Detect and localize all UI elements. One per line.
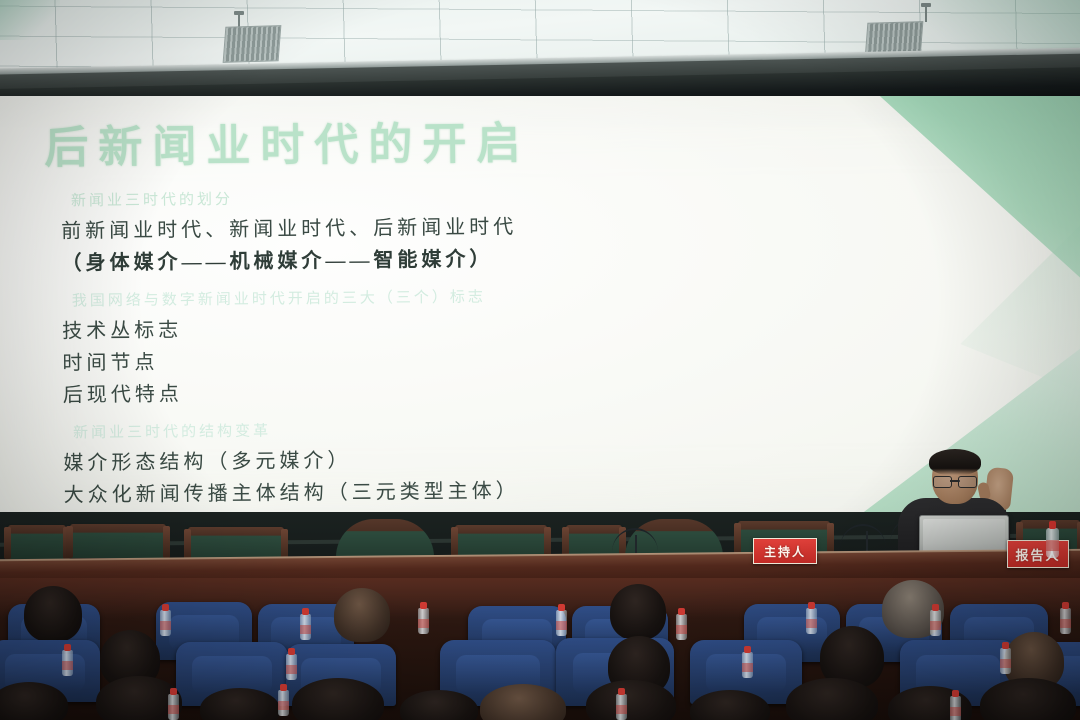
slide-line-1-2: （身体媒介——机械媒介——智能媒介） [61, 239, 805, 275]
water-bottle [278, 690, 289, 716]
ceiling-vent-left [223, 25, 282, 63]
stage-chair [8, 525, 66, 559]
water-bottle [1000, 648, 1011, 674]
water-bottle [418, 608, 429, 634]
audience-area [0, 578, 1080, 720]
water-bottle [286, 654, 297, 680]
eyeglasses-icon [933, 476, 977, 486]
water-bottle [950, 696, 961, 720]
water-bottle [930, 610, 941, 636]
water-bottle [616, 694, 627, 720]
slide-line-2-2: 时间节点 [62, 339, 806, 375]
audience-head [610, 584, 666, 640]
water-bottle [556, 610, 567, 636]
slide-line-3-1: 媒介形态结构（多元媒介） [63, 439, 807, 475]
water-bottle [160, 610, 171, 636]
water-bottle [1060, 608, 1071, 634]
audience-head [24, 586, 82, 642]
projection-screen: 后新闻业时代的开启 新闻业三时代的划分 前新闻业时代、新闻业时代、后新闻业时代 … [0, 96, 1080, 524]
water-bottle [676, 614, 687, 640]
water-bottle [300, 614, 311, 640]
slide-line-2-3: 后现代特点 [63, 371, 807, 407]
water-bottle [168, 694, 179, 720]
water-bottle [742, 652, 753, 678]
slide-section-heading-2: 我国网络与数字新闻业时代开启的三大（三个）标志 [72, 282, 806, 310]
slide-content: 后新闻业时代的开启 新闻业三时代的划分 前新闻业时代、新闻业时代、后新闻业时代 … [44, 113, 808, 524]
water-bottle [62, 650, 73, 676]
slide-line-3-2: 大众化新闻传播主体结构（三元类型主体） [64, 471, 808, 507]
projection-screen-area: 后新闻业时代的开启 新闻业三时代的划分 前新闻业时代、新闻业时代、后新闻业时代 … [0, 96, 1080, 524]
water-bottle [806, 608, 817, 634]
slide-title: 后新闻业时代的开启 [44, 113, 804, 175]
slide-section-heading-1: 新闻业三时代的划分 [71, 182, 805, 210]
nameplate-speaker: 报告人 [1007, 540, 1069, 568]
stage-chair [70, 524, 166, 558]
vent-stem-right [925, 6, 927, 22]
nameplate-host: 主持人 [753, 538, 817, 564]
slide-section-heading-3: 新闻业三时代的结构变革 [73, 414, 807, 442]
slide-line-2-1: 技术丛标志 [62, 307, 806, 343]
lecture-hall-scene: 后新闻业时代的开启 新闻业三时代的划分 前新闻业时代、新闻业时代、后新闻业时代 … [0, 0, 1080, 720]
audience-head [334, 588, 390, 642]
ceiling-green-tint-left [0, 0, 60, 40]
speaker-hair [929, 449, 981, 475]
water-bottle [1046, 528, 1059, 558]
slide-line-1-1: 前新闻业时代、新闻业时代、后新闻业时代 [61, 207, 805, 243]
